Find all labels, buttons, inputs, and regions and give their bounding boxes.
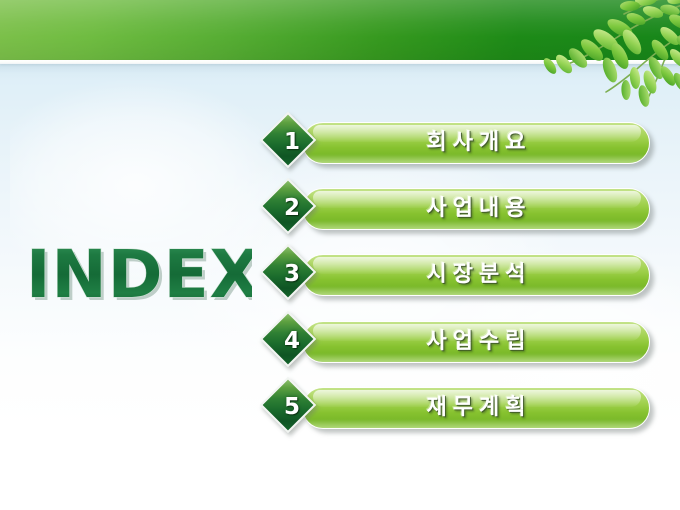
menu-number-badge: 2 xyxy=(264,182,320,238)
index-slide: INDEX INDEX 회사개요 1 사업내용 xyxy=(0,0,680,510)
menu-item-2[interactable]: 사업내용 2 xyxy=(264,182,656,238)
index-menu-list: 회사개요 1 사업내용 2 xyxy=(264,116,656,446)
menu-number-text: 1 xyxy=(264,116,320,172)
menu-item-label: 시장분석 xyxy=(302,254,650,296)
svg-text:INDEX: INDEX xyxy=(26,238,252,313)
menu-item-label: 회사개요 xyxy=(302,122,650,164)
menu-number-badge: 3 xyxy=(264,248,320,304)
menu-number-text: 2 xyxy=(264,182,320,238)
menu-number-badge: 1 xyxy=(264,116,320,172)
menu-number-badge: 5 xyxy=(264,381,320,437)
menu-item-3[interactable]: 시장분석 3 xyxy=(264,248,656,304)
menu-number-text: 4 xyxy=(264,315,320,371)
menu-number-badge: 4 xyxy=(264,315,320,371)
menu-item-4[interactable]: 사업수립 4 xyxy=(264,315,656,371)
leaf-branch-decoration xyxy=(520,0,680,116)
menu-item-label: 재무계획 xyxy=(302,387,650,429)
menu-number-text: 3 xyxy=(264,248,320,304)
menu-item-5[interactable]: 재무계획 5 xyxy=(264,381,656,437)
menu-item-label: 사업수립 xyxy=(302,321,650,363)
menu-item-label: 사업내용 xyxy=(302,188,650,230)
page-title: INDEX INDEX xyxy=(22,238,252,316)
menu-item-1[interactable]: 회사개요 1 xyxy=(264,116,656,172)
menu-number-text: 5 xyxy=(264,381,320,437)
